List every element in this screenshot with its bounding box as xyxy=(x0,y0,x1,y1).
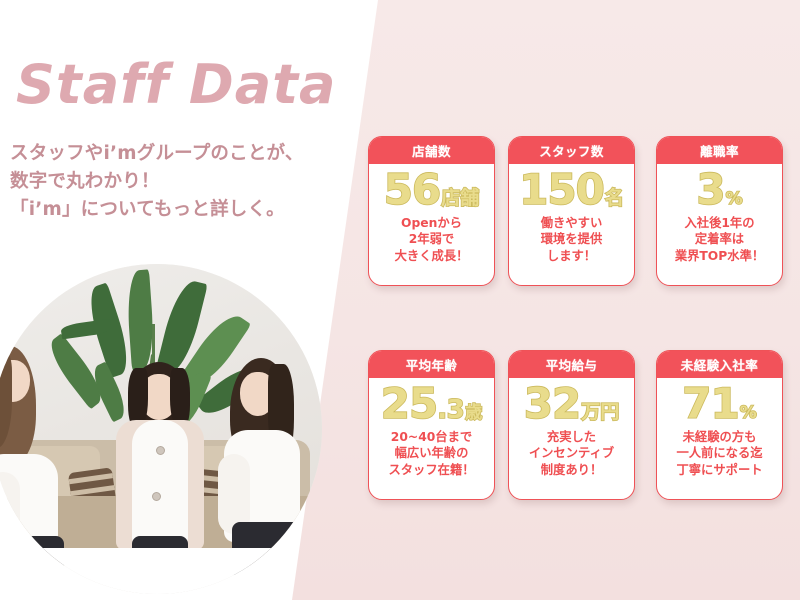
stat-card-header: 未経験入社率 xyxy=(657,351,782,378)
stat-value-unit: 万円 xyxy=(581,403,619,422)
stat-value-main: 32 xyxy=(524,383,580,425)
stat-card-description: 20~40台まで 幅広い年齢の スタッフ在籍！ xyxy=(388,429,474,478)
stat-card-value: 71 % xyxy=(682,383,757,425)
stat-card-value: 3 % xyxy=(696,169,742,211)
stat-card-description: Openから 2年弱で 大きく成長！ xyxy=(395,215,469,264)
stat-value-unit: % xyxy=(726,191,743,208)
stat-card-header-label: 平均給与 xyxy=(546,355,598,374)
stats-card-grid: 店舗数 56 店舗 Openから 2年弱で 大きく成長！ スタッフ数 150 名… xyxy=(0,0,800,600)
stat-value-unit: 名 xyxy=(605,189,624,208)
stat-card-description: 充実した インセンティブ 制度あり！ xyxy=(529,429,614,478)
stat-card-value: 32 万円 xyxy=(524,383,619,425)
stat-card-header-label: 離職率 xyxy=(700,141,739,160)
stat-value-main: 3 xyxy=(696,169,724,211)
stat-card-header-label: 平均年齢 xyxy=(406,355,458,374)
stat-card-header: 店舗数 xyxy=(369,137,494,164)
stat-card-header: 平均年齢 xyxy=(369,351,494,378)
stat-card-average-age[interactable]: 平均年齢 25 .3 歳 20~40台まで 幅広い年齢の スタッフ在籍！ xyxy=(368,350,495,500)
stat-card-value: 25 .3 歳 xyxy=(381,383,482,425)
stat-card-staff-count[interactable]: スタッフ数 150 名 働きやすい 環境を提供 します！ xyxy=(508,136,635,286)
stat-value-unit: 店舗 xyxy=(441,189,479,208)
stat-value-unit: % xyxy=(740,405,757,422)
stat-card-average-salary[interactable]: 平均給与 32 万円 充実した インセンティブ 制度あり！ xyxy=(508,350,635,500)
stat-card-value: 56 店舗 xyxy=(384,169,479,211)
stat-card-inexperienced-hire-rate[interactable]: 未経験入社率 71 % 未経験の方も 一人前になる迄 丁寧にサポート xyxy=(656,350,783,500)
stat-card-header: 平均給与 xyxy=(509,351,634,378)
slide-root: Staff Data スタッフやi’mグループのことが、 数字で丸わかり！ 「i… xyxy=(0,0,800,600)
stat-value-unit: 歳 xyxy=(465,405,482,422)
stat-card-header-label: 未経験入社率 xyxy=(681,355,758,374)
stat-card-header: 離職率 xyxy=(657,137,782,164)
stat-value-decimal: .3 xyxy=(437,397,464,423)
stat-value-main: 56 xyxy=(384,169,440,211)
stat-card-description: 働きやすい 環境を提供 します！ xyxy=(541,215,603,264)
stat-card-value: 150 名 xyxy=(519,169,624,211)
stat-card-header: スタッフ数 xyxy=(509,137,634,164)
stat-card-header-label: 店舗数 xyxy=(412,141,451,160)
stat-value-main: 150 xyxy=(519,169,604,211)
stat-card-description: 未経験の方も 一人前になる迄 丁寧にサポート xyxy=(676,429,762,478)
stat-card-turnover-rate[interactable]: 離職率 3 % 入社後1年の 定着率は 業界TOP水準！ xyxy=(656,136,783,286)
stat-card-header-label: スタッフ数 xyxy=(539,141,604,160)
stat-value-main: 25 xyxy=(381,383,437,425)
stat-card-description: 入社後1年の 定着率は 業界TOP水準！ xyxy=(675,215,764,264)
stat-value-main: 71 xyxy=(682,383,738,425)
stat-card-stores[interactable]: 店舗数 56 店舗 Openから 2年弱で 大きく成長！ xyxy=(368,136,495,286)
